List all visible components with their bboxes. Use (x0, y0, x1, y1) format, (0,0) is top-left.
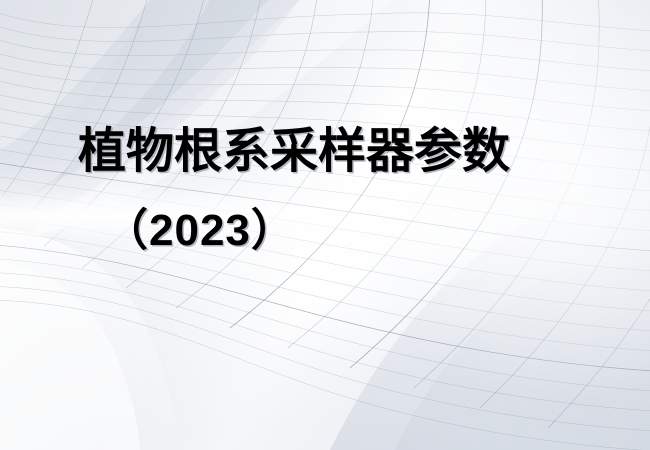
title-block: 植物根系采样器参数 （2023） (0, 0, 650, 450)
page-title: 植物根系采样器参数 (78, 126, 510, 178)
page-subtitle-year: （2023） (104, 206, 296, 256)
title-slide: 植物根系采样器参数 （2023） (0, 0, 650, 450)
